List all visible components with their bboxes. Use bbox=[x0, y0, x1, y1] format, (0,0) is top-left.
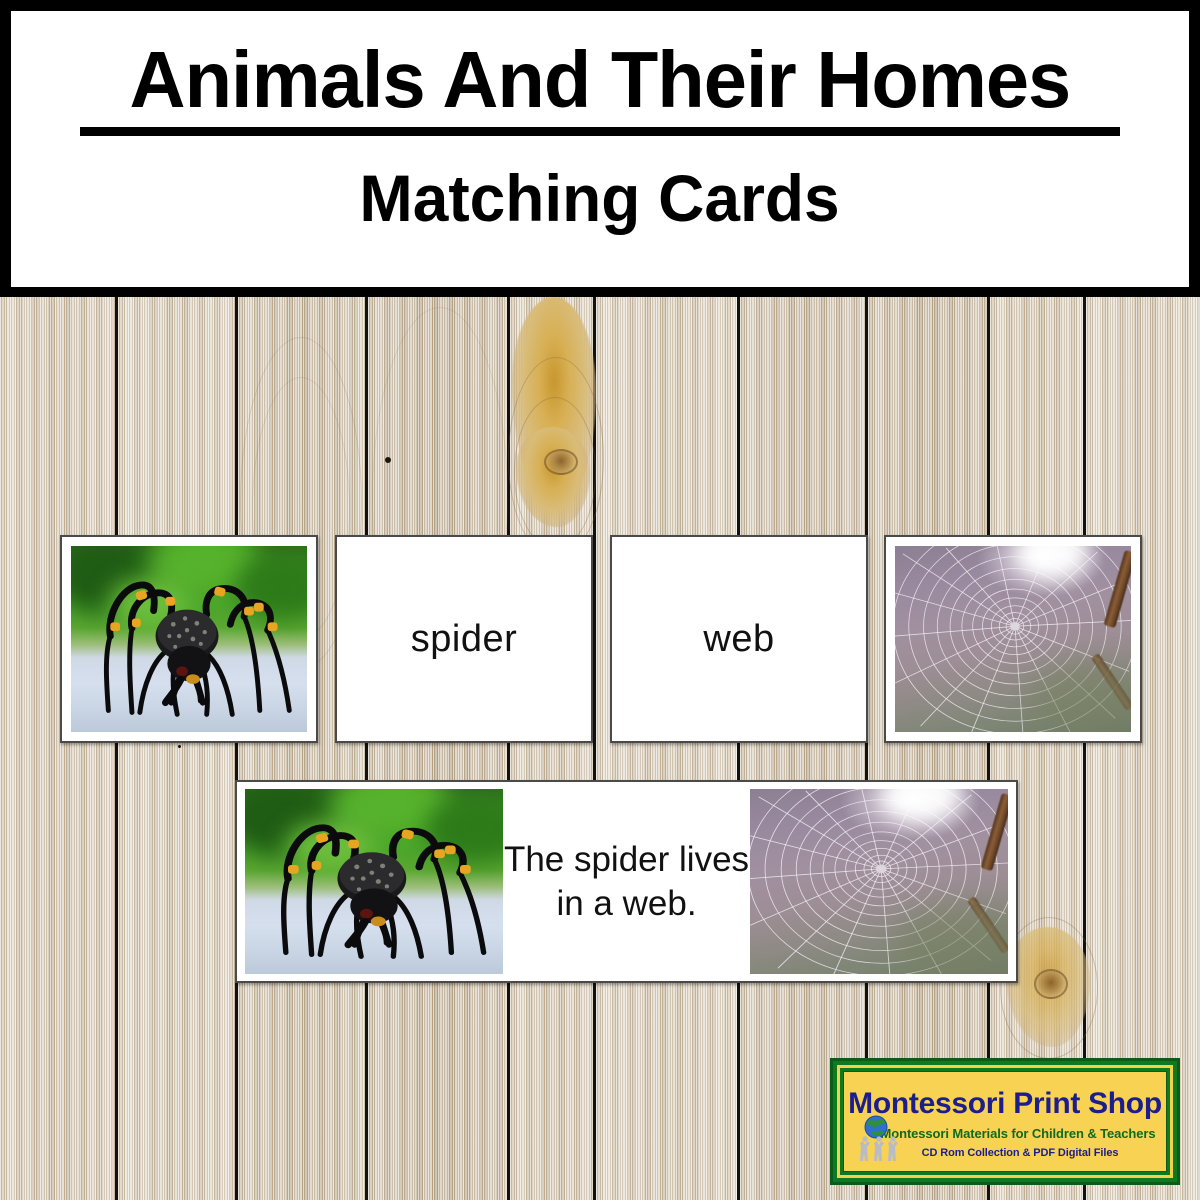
poster-page: Animals And Their Homes Matching Cards bbox=[0, 0, 1200, 1200]
wood-plank bbox=[0, 297, 118, 1200]
spider-word-label: spider bbox=[411, 618, 518, 661]
sentence-card[interactable]: The spider lives in a web. bbox=[235, 780, 1018, 983]
logo-tagline: Montessori Materials for Children & Teac… bbox=[881, 1126, 1156, 1141]
sentence-line-2: in a web. bbox=[503, 882, 750, 926]
spider-illustration bbox=[71, 546, 307, 732]
globe-with-children-icon bbox=[852, 1113, 910, 1165]
wood-plank bbox=[118, 297, 238, 1200]
wood-speck bbox=[385, 457, 391, 463]
web-word-card[interactable]: web bbox=[610, 535, 868, 743]
logo-panel: Montessori Print Shop Montessori Materia… bbox=[843, 1071, 1167, 1172]
spider-word-card[interactable]: spider bbox=[335, 535, 593, 743]
sentence-text-block: The spider lives in a web. bbox=[503, 838, 750, 926]
web-word-label: web bbox=[703, 618, 774, 661]
page-title: Animals And Their Homes bbox=[130, 37, 1071, 123]
spider-illustration bbox=[245, 789, 503, 974]
page-subtitle: Matching Cards bbox=[360, 162, 840, 234]
title-banner: Animals And Their Homes Matching Cards bbox=[6, 6, 1194, 292]
web-picture-card[interactable] bbox=[884, 535, 1142, 743]
sentence-spider-photo bbox=[245, 789, 503, 974]
title-underline bbox=[80, 127, 1120, 136]
logo-inner-frame: Montessori Print Shop Montessori Materia… bbox=[837, 1065, 1173, 1178]
title-block: Animals And Their Homes bbox=[80, 37, 1120, 136]
spider-photo bbox=[71, 546, 307, 732]
wood-speck bbox=[178, 745, 181, 748]
web-photo bbox=[895, 546, 1131, 732]
sentence-web-photo bbox=[750, 789, 1008, 974]
montessori-print-shop-logo[interactable]: Montessori Print Shop Montessori Materia… bbox=[830, 1058, 1180, 1185]
logo-formats: CD Rom Collection & PDF Digital Files bbox=[922, 1147, 1119, 1159]
wood-grain bbox=[514, 397, 596, 549]
wood-plank bbox=[596, 297, 740, 1200]
spider-picture-card[interactable] bbox=[60, 535, 318, 743]
sentence-line-1: The spider lives bbox=[503, 838, 750, 882]
